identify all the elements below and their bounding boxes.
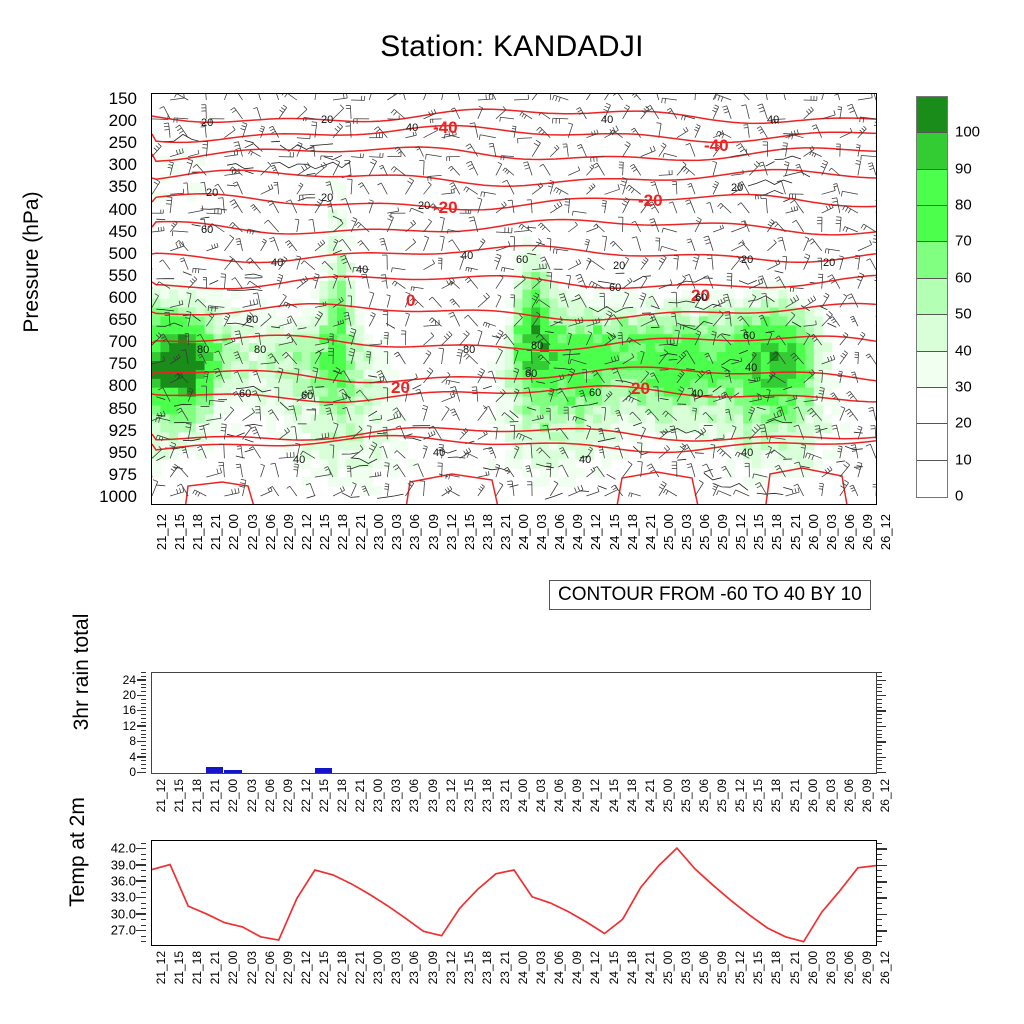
time-tick-23_06: 23_06 [407,951,421,984]
time-tick-26_12: 26_12 [878,779,892,812]
time-tick-22_03: 22_03 [245,514,260,550]
time-tick-24_03: 24_03 [534,514,549,550]
svg-text:40: 40 [271,257,283,269]
time-tick-24_21: 24_21 [643,779,657,812]
temp-right-tick [877,941,882,942]
time-tick-23_03: 23_03 [389,514,404,550]
pressure-tick-400: 400 [109,200,137,220]
time-tick-23_09: 23_09 [426,779,440,812]
time-tick-26_03: 26_03 [824,514,839,550]
rain-tickmark [137,741,146,742]
time-tick-21_21: 21_21 [208,951,222,984]
rain-right-tick [877,772,886,773]
pressure-tick-250: 250 [109,133,137,153]
pressure-tick-850: 850 [109,399,137,419]
time-tick-21_21: 21_21 [208,514,223,550]
rain-minor-tick [141,730,146,731]
svg-text:40: 40 [433,447,445,459]
time-tick-25_15: 25_15 [751,779,765,812]
time-tick-22_12: 22_12 [299,514,314,550]
pressure-tick-300: 300 [109,155,137,175]
temp-right-tick [877,930,887,932]
rain-right-tick [877,680,886,681]
colorbar-label-70: 70 [955,233,972,250]
time-tick-25_09: 25_09 [715,951,729,984]
svg-text:20: 20 [731,182,743,194]
temp-ytick-30.0: 30.0 [111,906,136,921]
rain-right-tick [877,710,886,711]
time-tick-24_12: 24_12 [588,779,602,812]
temp-right-tick [877,876,882,877]
colorbar [916,96,948,498]
rain-right-tick [877,718,882,719]
time-tick-24_12: 24_12 [588,951,602,984]
rain-tickmark [137,710,146,711]
colorbar-label-0: 0 [955,488,963,505]
time-tick-25_12: 25_12 [733,951,747,984]
time-tick-26_12: 26_12 [878,951,892,984]
rain-right-ticks [877,672,901,772]
rain-bar-chart[interactable] [151,672,877,774]
main-chart-y-axis-title: Pressure (hPa) [20,142,44,382]
pressure-tick-500: 500 [109,244,137,264]
time-tick-23_12: 23_12 [444,514,459,550]
pressure-tick-950: 950 [109,443,137,463]
colorbar-band-2 [917,170,947,206]
temp-minor-tick [141,903,146,904]
rain-chart-x-axis: 21_1221_1521_1821_2122_0022_0322_0622_09… [151,777,875,839]
rain-minor-tick [141,707,146,708]
temp-right-tick [877,925,882,926]
svg-text:60: 60 [516,254,528,266]
temp-chart-x-axis: 21_1221_1521_1821_2122_0022_0322_0622_09… [151,949,875,1011]
rain-tickmark [137,679,146,680]
time-tick-24_06: 24_06 [552,514,567,550]
time-tick-23_21: 23_21 [498,514,513,550]
time-tick-22_12: 22_12 [299,779,313,812]
svg-text:80: 80 [197,344,209,356]
rain-minor-tick [141,672,146,673]
time-tick-25_06: 25_06 [697,779,711,812]
rain-minor-tick [141,684,146,685]
rain-minor-tick [141,699,146,700]
time-tick-21_18: 21_18 [190,514,205,550]
svg-text:60: 60 [525,368,537,380]
rain-right-tick [877,757,886,758]
temp-right-tick [877,843,882,844]
svg-text:60: 60 [246,314,258,326]
temp-right-tick [877,919,882,920]
time-tick-22_18: 22_18 [335,779,349,812]
svg-text:80: 80 [531,340,543,352]
colorbar-band-10 [917,461,947,497]
colorbar-label-80: 80 [955,197,972,214]
rain-minor-tick [141,691,146,692]
rain-right-tick [877,676,882,677]
time-tick-26_06: 26_06 [842,951,856,984]
rain-minor-tick [141,768,146,769]
colorbar-band-0 [917,97,947,133]
temp-ytick-27.0: 27.0 [111,923,136,938]
time-tick-22_00: 22_00 [226,514,241,550]
time-tick-26_00: 26_00 [806,514,821,550]
rain-tickmark [137,772,146,773]
temp-right-tick [877,903,882,904]
time-tick-23_06: 23_06 [407,514,422,550]
svg-text:40: 40 [579,454,591,466]
time-tick-23_15: 23_15 [462,951,476,984]
time-tick-25_03: 25_03 [679,514,694,550]
rain-ytick-24: 24 [123,673,136,687]
svg-text:60: 60 [201,224,213,236]
time-tick-25_18: 25_18 [769,779,783,812]
time-tick-25_09: 25_09 [715,779,729,812]
time-tick-22_21: 22_21 [353,779,367,812]
time-tick-22_03: 22_03 [245,779,259,812]
temp-minor-tick [141,936,146,937]
temp-minor-tick [141,848,146,849]
colorbar-band-4 [917,242,947,278]
time-tick-25_12: 25_12 [733,779,747,812]
temp-right-tick [877,936,882,937]
time-tick-25_03: 25_03 [679,779,693,812]
time-tick-24_21: 24_21 [643,514,658,550]
rain-minor-tick [141,703,146,704]
rain-right-tick [877,726,886,727]
temp-minor-tick [141,908,146,909]
temp-right-tick [877,848,887,850]
temp-right-tick [877,908,882,909]
rain-right-tick [877,760,882,761]
colorbar-label-40: 40 [955,342,972,359]
time-tick-25_00: 25_00 [661,779,675,812]
temperature-line-chart[interactable] [151,840,877,946]
svg-text:-20: -20 [638,191,663,210]
time-tick-22_06: 22_06 [263,779,277,812]
svg-text:-40: -40 [704,136,729,155]
rain-right-tick [877,768,882,769]
rain-minor-tick [141,734,146,735]
temp-minor-tick [141,854,146,855]
colorbar-label-10: 10 [955,451,972,468]
temp-minor-tick [141,914,146,915]
svg-text:60: 60 [589,387,601,399]
svg-text:-40: -40 [433,118,458,137]
time-tick-25_12: 25_12 [733,514,748,550]
cross-section-canvas: -40-20020-40-202020202040404020202020604… [152,94,876,504]
temp-minor-tick [141,876,146,877]
time-tick-22_00: 22_00 [226,951,240,984]
pressure-tick-550: 550 [109,266,137,286]
time-tick-22_18: 22_18 [335,951,349,984]
time-tick-23_18: 23_18 [480,514,495,550]
time-tick-25_18: 25_18 [769,951,783,984]
rain-bar-21_21 [206,767,223,773]
time-tick-24_00: 24_00 [516,514,531,550]
time-tick-22_06: 22_06 [263,951,277,984]
time-tick-24_09: 24_09 [570,514,585,550]
contour-legend-box: CONTOUR FROM -60 TO 40 BY 10 [549,580,871,610]
temperature-canvas [152,841,876,945]
pressure-tick-350: 350 [109,177,137,197]
rain-right-tick [877,691,882,692]
time-tick-23_18: 23_18 [480,951,494,984]
rain-minor-tick [141,737,146,738]
rain-minor-tick [141,760,146,761]
time-tick-24_09: 24_09 [570,779,584,812]
svg-text:20: 20 [321,192,333,204]
temp-minor-tick [141,887,146,888]
time-tick-23_00: 23_00 [371,514,386,550]
time-tick-25_21: 25_21 [788,514,803,550]
rain-right-tick [877,687,882,688]
temp-chart-y-axis: 27.030.033.036.039.042.0 [72,840,146,944]
rain-right-tick [877,749,882,750]
main-chart-x-axis: 21_1221_1521_1821_2122_0022_0322_0622_09… [151,512,875,574]
colorbar-label-100: 100 [955,124,980,141]
svg-text:20: 20 [321,114,333,126]
time-tick-24_18: 24_18 [625,951,639,984]
pressure-tick-800: 800 [109,376,137,396]
time-tick-23_15: 23_15 [462,514,477,550]
humidity-cross-section-plot[interactable]: -40-20020-40-202020202040404020202020604… [151,93,877,505]
time-tick-26_06: 26_06 [842,779,856,812]
temp-ytick-36.0: 36.0 [111,874,136,889]
rain-right-tick [877,745,882,746]
rain-right-tick [877,734,882,735]
svg-text:80: 80 [463,344,475,356]
time-tick-26_12: 26_12 [878,514,893,550]
temp-right-tick [877,881,887,883]
time-tick-24_18: 24_18 [625,779,639,812]
rain-minor-tick [141,753,146,754]
colorbar-label-20: 20 [955,415,972,432]
time-tick-23_12: 23_12 [444,779,458,812]
svg-text:-20: -20 [433,198,458,217]
time-tick-23_18: 23_18 [480,779,494,812]
temp-right-tick [877,865,887,867]
time-tick-23_00: 23_00 [371,951,385,984]
time-tick-26_00: 26_00 [806,779,820,812]
time-tick-24_00: 24_00 [516,951,530,984]
temp-right-tick [877,859,882,860]
time-tick-26_03: 26_03 [824,951,838,984]
time-tick-24_03: 24_03 [534,951,548,984]
svg-text:40: 40 [691,388,703,400]
rain-bar-22_15 [315,768,332,773]
time-tick-22_18: 22_18 [335,514,350,550]
time-tick-25_15: 25_15 [751,514,766,550]
rain-right-tick [877,722,882,723]
time-tick-22_09: 22_09 [281,514,296,550]
rain-tickmark [137,695,146,696]
temp-right-tick [877,897,887,899]
time-tick-25_15: 25_15 [751,951,765,984]
time-tick-23_15: 23_15 [462,779,476,812]
temp-minor-tick [141,897,146,898]
time-tick-25_00: 25_00 [661,951,675,984]
svg-text:20: 20 [418,200,430,212]
rain-bar-22_00 [224,770,241,774]
time-tick-23_03: 23_03 [389,779,403,812]
svg-text:20: 20 [201,117,213,129]
svg-text:40: 40 [293,454,305,466]
time-tick-26_09: 26_09 [860,514,875,550]
temp-minor-tick [141,881,146,882]
temp-minor-tick [141,859,146,860]
time-tick-22_21: 22_21 [353,951,367,984]
svg-text:40: 40 [406,122,418,134]
time-tick-23_06: 23_06 [407,779,421,812]
time-tick-21_12: 21_12 [154,951,168,984]
time-tick-23_09: 23_09 [426,951,440,984]
temp-minor-tick [141,870,146,871]
time-tick-25_21: 25_21 [788,779,802,812]
time-tick-23_09: 23_09 [426,514,441,550]
time-tick-22_00: 22_00 [226,779,240,812]
time-tick-25_18: 25_18 [769,514,784,550]
pressure-tick-200: 200 [109,111,137,131]
temp-minor-tick [141,865,146,866]
rain-right-tick [877,753,882,754]
svg-text:40: 40 [601,114,613,126]
rain-right-tick [877,672,882,673]
time-tick-23_03: 23_03 [389,951,403,984]
svg-text:20: 20 [631,379,650,398]
time-tick-24_15: 24_15 [607,951,621,984]
rain-minor-tick [141,722,146,723]
time-tick-25_09: 25_09 [715,514,730,550]
svg-text:20: 20 [741,254,753,266]
temp-minor-tick [141,843,146,844]
time-tick-22_15: 22_15 [317,779,331,812]
temp-ytick-39.0: 39.0 [111,857,136,872]
time-tick-26_00: 26_00 [806,951,820,984]
time-tick-24_21: 24_21 [643,951,657,984]
svg-text:60: 60 [609,282,621,294]
time-tick-25_06: 25_06 [697,514,712,550]
rain-ytick-0: 0 [129,765,136,779]
rain-right-tick [877,695,886,696]
temp-right-tick [877,870,882,871]
time-tick-25_03: 25_03 [679,951,693,984]
colorbar-band-1 [917,133,947,169]
rain-minor-tick [141,687,146,688]
svg-text:80: 80 [254,344,266,356]
time-tick-23_21: 23_21 [498,779,512,812]
rain-ytick-12: 12 [123,719,136,733]
rain-right-tick [877,730,882,731]
time-tick-25_00: 25_00 [661,514,676,550]
pressure-tick-600: 600 [109,288,137,308]
pressure-tick-925: 925 [109,421,137,441]
rain-minor-tick [141,764,146,765]
temp-right-tick [877,914,887,916]
time-tick-26_06: 26_06 [842,514,857,550]
rain-minor-tick [141,718,146,719]
time-tick-24_09: 24_09 [570,951,584,984]
svg-text:20: 20 [206,187,218,199]
rain-right-tick [877,764,882,765]
colorbar-label-30: 30 [955,378,972,395]
rain-ytick-20: 20 [123,688,136,702]
rain-ytick-16: 16 [123,703,136,717]
pressure-tick-1000: 1000 [99,487,137,507]
rain-tickmark [137,725,146,726]
time-tick-24_12: 24_12 [588,514,603,550]
rain-minor-tick [141,676,146,677]
time-tick-23_12: 23_12 [444,951,458,984]
colorbar-band-6 [917,315,947,351]
time-tick-21_12: 21_12 [154,779,168,812]
temp-minor-tick [141,925,146,926]
rain-right-tick [877,741,886,742]
pressure-tick-650: 650 [109,310,137,330]
time-tick-21_12: 21_12 [154,514,169,550]
rain-right-tick [877,737,882,738]
time-tick-23_21: 23_21 [498,951,512,984]
colorbar-label-60: 60 [955,269,972,286]
temp-right-tick [877,854,882,855]
time-tick-21_15: 21_15 [172,779,186,812]
colorbar-band-5 [917,279,947,315]
rain-right-tick [877,684,882,685]
svg-text:60: 60 [301,390,313,402]
rain-right-tick [877,703,882,704]
temp-ytick-33.0: 33.0 [111,890,136,905]
svg-text:60: 60 [695,292,707,304]
time-tick-26_03: 26_03 [824,779,838,812]
time-tick-21_21: 21_21 [208,779,222,812]
time-tick-24_06: 24_06 [552,779,566,812]
time-tick-21_18: 21_18 [190,779,204,812]
rain-right-tick [877,714,882,715]
svg-text:20: 20 [391,378,410,397]
colorbar-labels: 1009080706050403020100 [955,96,1015,496]
rain-ytick-8: 8 [129,734,136,748]
time-tick-26_09: 26_09 [860,779,874,812]
time-tick-24_00: 24_00 [516,779,530,812]
time-tick-22_12: 22_12 [299,951,313,984]
time-tick-22_15: 22_15 [317,951,331,984]
colorbar-band-7 [917,352,947,388]
colorbar-label-50: 50 [955,306,972,323]
rain-right-tick [877,707,882,708]
temp-minor-tick [141,941,146,942]
svg-text:40: 40 [767,114,779,126]
temp-minor-tick [141,892,146,893]
colorbar-label-90: 90 [955,160,972,177]
time-tick-23_00: 23_00 [371,779,385,812]
time-tick-26_09: 26_09 [860,951,874,984]
rain-tickmark [137,756,146,757]
time-tick-22_09: 22_09 [281,779,295,812]
pressure-tick-750: 750 [109,354,137,374]
svg-text:60: 60 [239,388,251,400]
time-tick-22_15: 22_15 [317,514,332,550]
colorbar-band-9 [917,424,947,460]
svg-text:40: 40 [745,362,757,374]
page-title: Station: KANDADJI [0,30,1024,64]
time-tick-21_18: 21_18 [190,951,204,984]
temp-minor-tick [141,919,146,920]
time-tick-22_06: 22_06 [263,514,278,550]
pressure-tick-150: 150 [109,89,137,109]
temp-right-tick [877,892,882,893]
colorbar-band-3 [917,206,947,242]
time-tick-24_18: 24_18 [625,514,640,550]
time-tick-24_15: 24_15 [607,779,621,812]
